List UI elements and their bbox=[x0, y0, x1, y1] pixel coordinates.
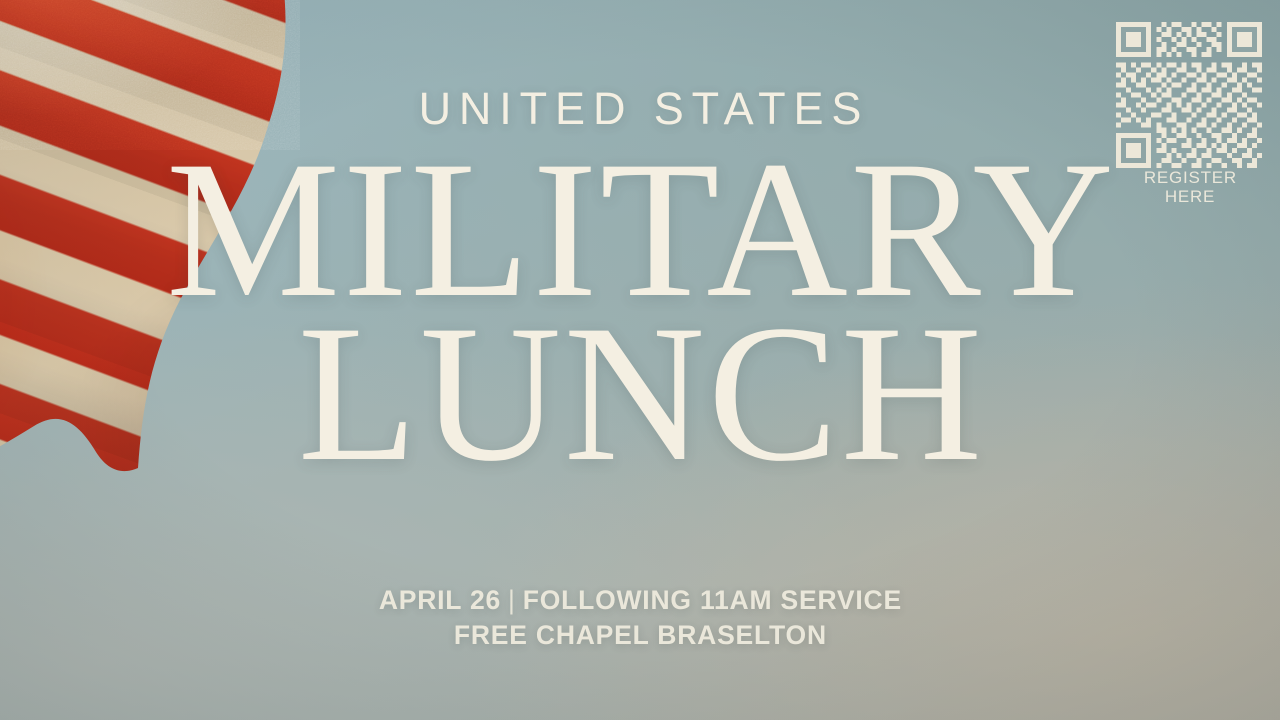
event-details: APRIL 26|FOLLOWING 11AM SERVICE FREE CHA… bbox=[0, 583, 1280, 652]
event-location: FREE CHAPEL BRASELTON bbox=[0, 618, 1280, 653]
poster-canvas: UNITED STATES MILITARY LUNCH APRIL 26|FO… bbox=[0, 0, 1280, 720]
qr-code-icon[interactable] bbox=[1116, 22, 1262, 168]
event-date-time-line: APRIL 26|FOLLOWING 11AM SERVICE bbox=[0, 583, 1280, 618]
event-time: FOLLOWING 11AM SERVICE bbox=[523, 585, 902, 615]
qr-register-label[interactable]: REGISTER HERE bbox=[1116, 169, 1264, 206]
register-qr-block[interactable]: REGISTER HERE bbox=[1116, 22, 1264, 206]
detail-divider: | bbox=[501, 585, 523, 615]
headline-block: UNITED STATES MILITARY LUNCH bbox=[0, 86, 1280, 487]
event-date: APRIL 26 bbox=[379, 585, 501, 615]
